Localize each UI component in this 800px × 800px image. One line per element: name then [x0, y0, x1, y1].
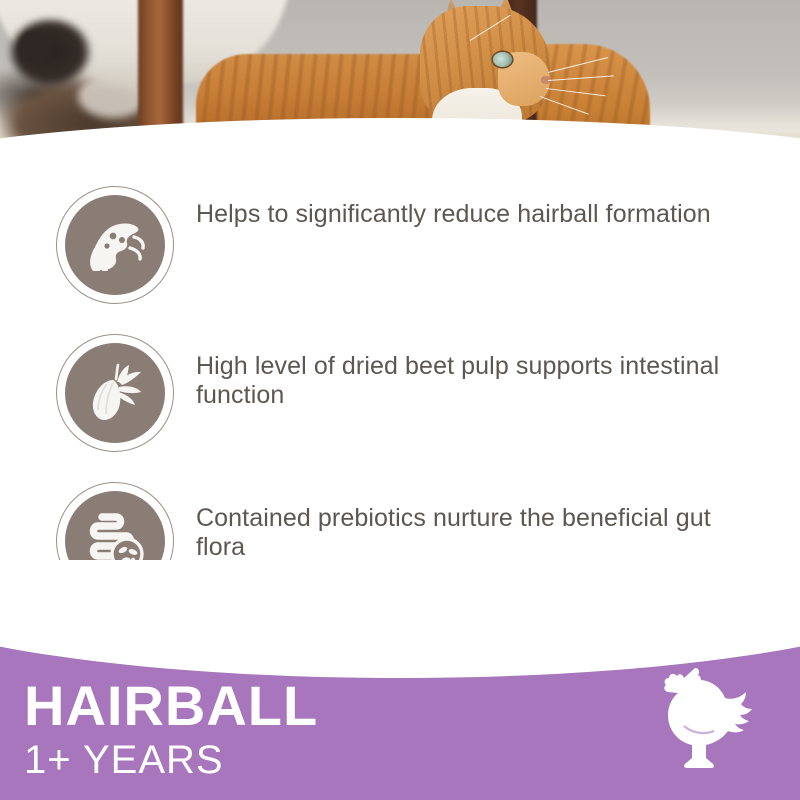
feature-text: Contained prebiotics nurture the benefic…	[196, 504, 766, 562]
banner-text-block: HAIRBALL 1+ YEARS	[24, 678, 318, 780]
page-subtitle: 1+ YEARS	[24, 740, 318, 780]
feature-icon-wrap	[56, 334, 174, 452]
photo-ginger-cat-eye	[493, 52, 512, 67]
feature-text: Helps to significantly reduce hairball f…	[196, 200, 766, 229]
feature-text: High level of dried beet pulp supports i…	[196, 352, 766, 410]
feature-item: Helps to significantly reduce hairball f…	[0, 186, 800, 306]
page-title: HAIRBALL	[24, 678, 318, 734]
cat-grooming-hairball-icon	[65, 195, 165, 295]
beet-root-icon	[65, 343, 165, 443]
product-feature-poster: Helps to significantly reduce hairball f…	[0, 0, 800, 800]
photo-dark-cat-ear	[18, 30, 52, 64]
chicken-icon	[640, 656, 760, 776]
feature-item: High level of dried beet pulp supports i…	[0, 334, 800, 454]
feature-icon-wrap	[56, 186, 174, 304]
